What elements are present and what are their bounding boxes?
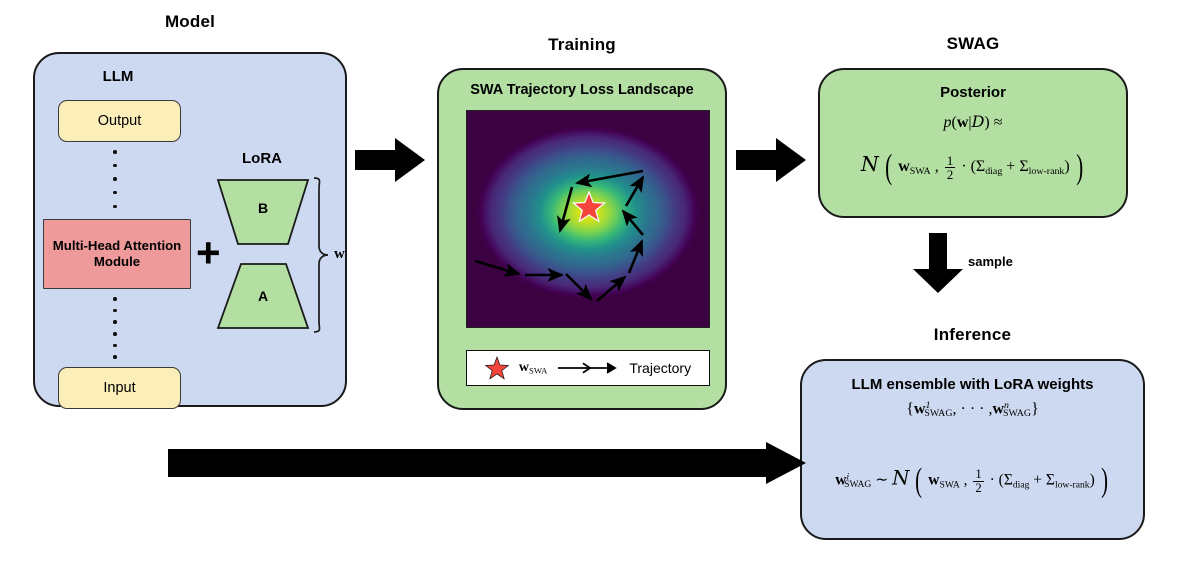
inf-paren-inner-close: ) xyxy=(1090,472,1095,489)
input-box: Input xyxy=(58,367,181,409)
inf-mean-w: w xyxy=(928,472,939,489)
sigma-diag: Σ xyxy=(976,158,985,175)
set-rbrace: } xyxy=(1031,400,1039,417)
inf-paren-open: ( xyxy=(915,462,922,500)
token-dot: · xyxy=(961,158,966,175)
model-section-title: Model xyxy=(33,12,347,32)
attention-line-2: Module xyxy=(94,254,140,269)
arrow-model-to-training xyxy=(355,136,427,184)
ensemble-set-formula: {w1SWAG, · · · ,wnSWAG} xyxy=(800,400,1145,419)
arrow-training-to-swag xyxy=(736,136,808,184)
posterior-formula-line1: p(w|D) ≈ xyxy=(818,112,1128,132)
lora-weights-label: w xyxy=(334,246,345,263)
set-lbrace: { xyxy=(906,400,914,417)
arrow-swag-to-inference xyxy=(913,233,967,295)
comma-1: , xyxy=(935,158,939,175)
inf-paren-close: ) xyxy=(1101,462,1108,500)
legend-arrow-icon xyxy=(557,360,619,376)
lora-label: LoRA xyxy=(212,150,312,167)
mean-sub: SWA xyxy=(910,166,931,177)
inf-comma: , xyxy=(964,472,968,489)
token-w: w xyxy=(957,114,969,131)
arrow-model-to-inference xyxy=(168,442,808,484)
legend-arrow-label: Trajectory xyxy=(629,360,691,376)
sample-sub-swag: SWAG xyxy=(844,479,871,490)
token-tilde: ∼ xyxy=(875,472,888,489)
set-sub-1: SWAG xyxy=(924,408,952,419)
inference-normal: N xyxy=(892,467,909,490)
set-dots: , · · · , xyxy=(953,400,993,417)
set-sub-n: SWAG xyxy=(1003,408,1031,419)
token-normal: N xyxy=(861,152,879,176)
paren-close: ) xyxy=(1076,148,1083,187)
sigma-diag-sub: diag xyxy=(985,166,1002,177)
sigma-lowrank: Σ xyxy=(1019,158,1028,175)
swa-star-marker xyxy=(572,190,606,224)
inference-sample-formula: wiSWAG ∼ N ( wSWA , 1 2 · (Σdiag + Σlow-… xyxy=(800,462,1145,500)
inference-section-title: Inference xyxy=(800,325,1145,345)
training-section-title: Training xyxy=(437,35,727,55)
legend-star-icon xyxy=(485,356,509,380)
diagram-canvas: Model LLM Output Multi-Head Attention Mo… xyxy=(0,0,1177,562)
inf-dot: · xyxy=(990,472,995,489)
inf-one-half-fraction: 1 2 xyxy=(973,468,983,495)
sample-arrow-label: sample xyxy=(968,254,1013,269)
llm-label: LLM xyxy=(43,68,193,85)
dotted-connector-upper xyxy=(112,150,118,208)
attention-line-1: Multi-Head Attention xyxy=(53,238,181,253)
token-approx: ≈ xyxy=(994,114,1003,131)
inf-sigma-lowrank-sub: low-rank xyxy=(1055,479,1090,490)
dotted-connector-lower xyxy=(112,297,118,359)
inf-sigma-diag-sub: diag xyxy=(1013,479,1030,490)
lora-b-label: B xyxy=(216,200,310,216)
token-plus: + xyxy=(1006,158,1015,175)
one-half-fraction: 1 2 xyxy=(945,154,956,182)
inf-sigma-diag: Σ xyxy=(1004,472,1013,489)
output-box: Output xyxy=(58,100,181,142)
inf-plus: + xyxy=(1033,472,1042,489)
mean-w: w xyxy=(898,158,910,175)
multi-head-attention-box: Multi-Head Attention Module xyxy=(43,219,191,289)
posterior-formula-line2: N ( wSWA , 1 2 · (Σdiag + Σlow-rank) ) xyxy=(818,148,1128,187)
trajectory-legend: wSWA Trajectory xyxy=(466,350,710,386)
paren-inner-close: ) xyxy=(1064,158,1069,175)
token-D: D xyxy=(972,112,985,131)
legend-star-label: wSWA xyxy=(519,360,547,376)
paren-open: ( xyxy=(885,148,892,187)
lora-brace xyxy=(310,176,332,334)
posterior-label: Posterior xyxy=(818,84,1128,101)
swag-section-title: SWAG xyxy=(818,34,1128,54)
inf-mean-sub: SWA xyxy=(940,479,960,490)
inf-sigma-lowrank: Σ xyxy=(1046,472,1055,489)
loss-landscape-title: SWA Trajectory Loss Landscape xyxy=(437,82,727,98)
ensemble-label: LLM ensemble with LoRA weights xyxy=(800,376,1145,393)
sigma-lowrank-sub: low-rank xyxy=(1029,166,1065,177)
lora-a-label: A xyxy=(216,288,310,304)
